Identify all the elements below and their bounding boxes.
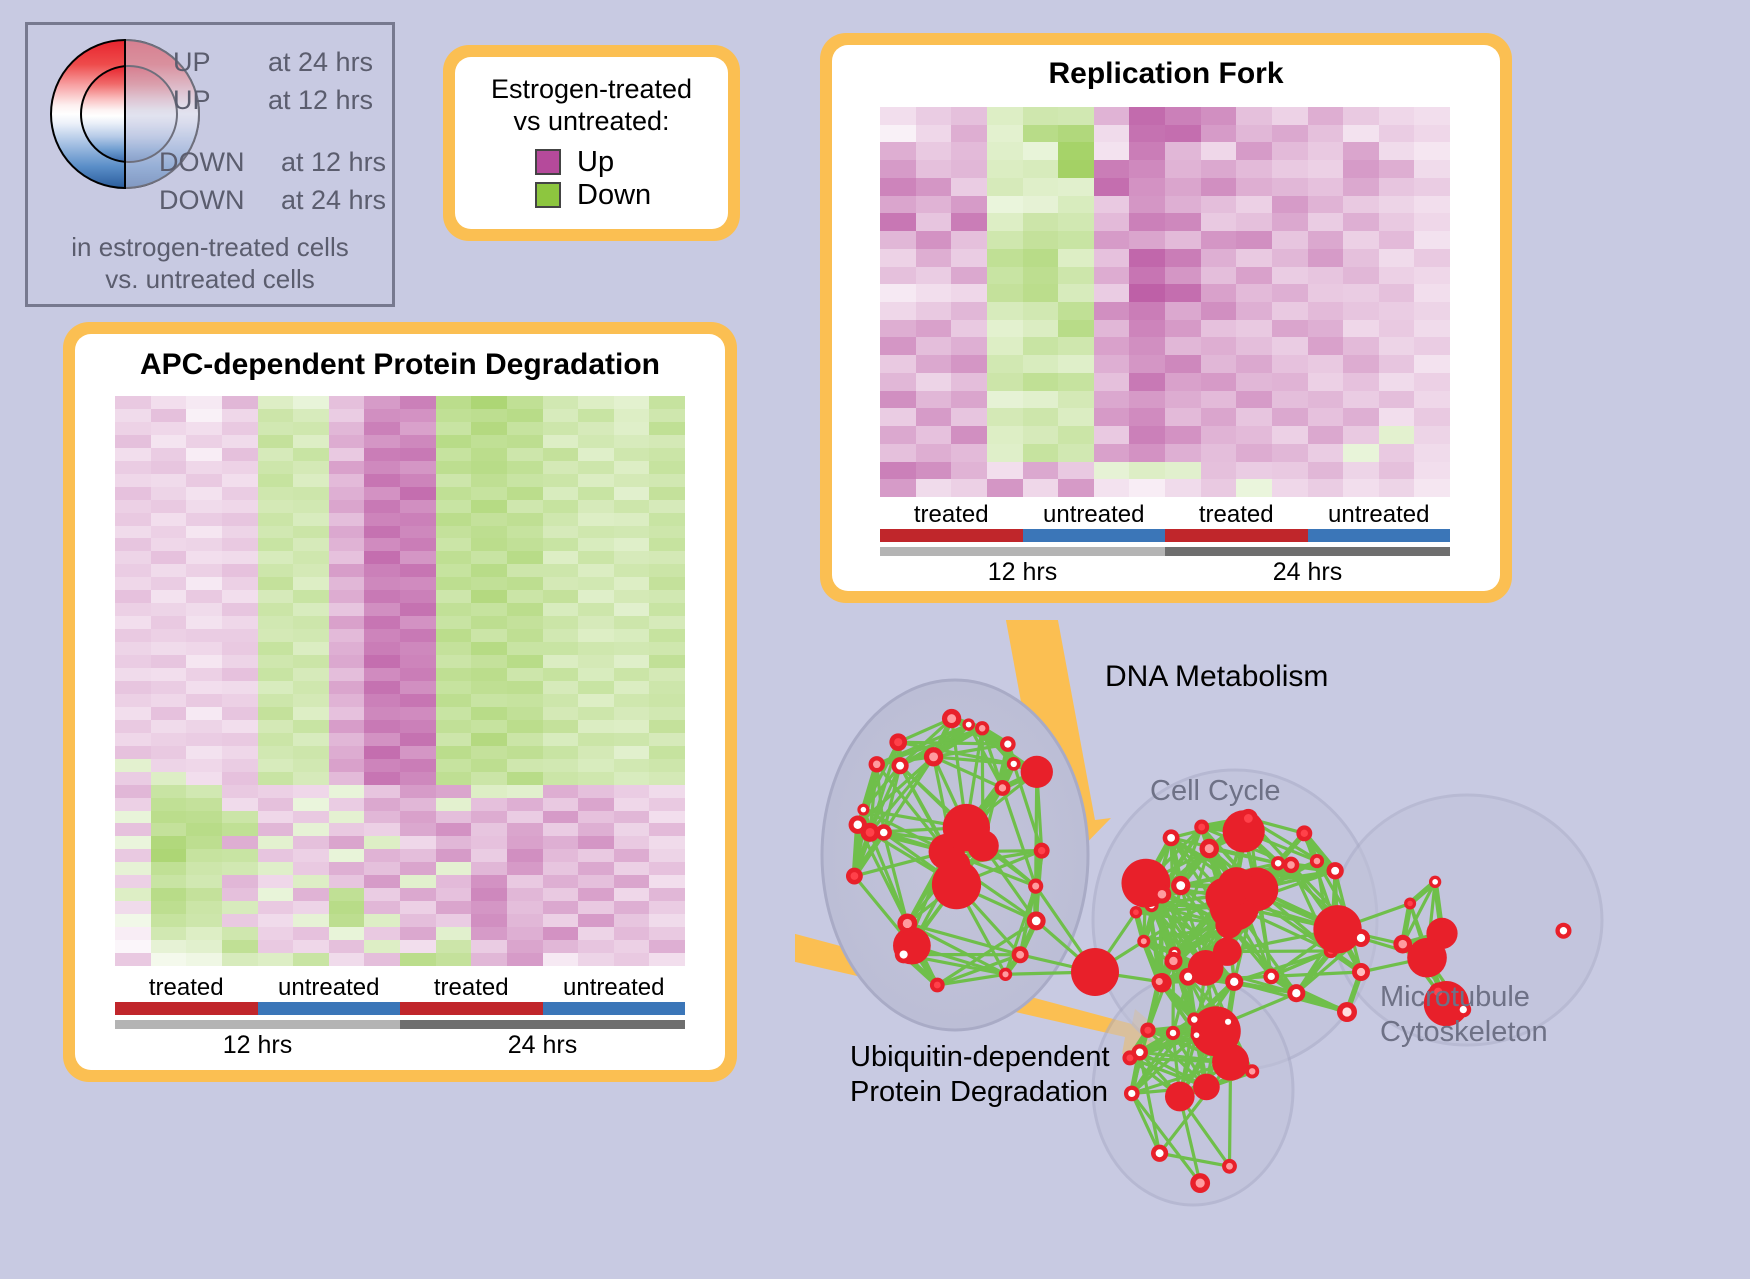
heatmap-cell (1094, 408, 1130, 426)
heatmap-cell (649, 953, 685, 966)
heatmap-cell (543, 811, 579, 824)
heatmap-cell (507, 875, 543, 888)
heatmap-cell (578, 746, 614, 759)
heatmap-cell (258, 681, 294, 694)
heatmap-cell (436, 927, 472, 940)
heatmap-cell (258, 953, 294, 966)
heatmap-cell (1414, 249, 1450, 267)
heatmap-cell (186, 461, 222, 474)
network-node[interactable] (1071, 948, 1119, 996)
heatmap-cell (649, 927, 685, 940)
heatmap-cell (364, 811, 400, 824)
heatmap-cell (507, 590, 543, 603)
heatmap-cell (987, 231, 1023, 249)
heatmap-cell (1236, 479, 1272, 497)
heatmap-cell (578, 681, 614, 694)
heatmap-cell (186, 668, 222, 681)
heatmap-cell (1165, 355, 1201, 373)
heatmap-cell (186, 914, 222, 927)
heatmap-cell (1023, 302, 1059, 320)
heatmap-cell (987, 267, 1023, 285)
heatmap-cell (115, 461, 151, 474)
network-node[interactable] (1212, 1044, 1249, 1081)
heatmap-cell (258, 422, 294, 435)
heatmap-cell (436, 733, 472, 746)
heatmap-cell (400, 914, 436, 927)
heatmap-cell (1272, 444, 1308, 462)
heatmap-cell (507, 772, 543, 785)
heatmap-cell (578, 811, 614, 824)
heatmap-cell (1201, 107, 1237, 125)
heatmap-cell (471, 785, 507, 798)
network-node-center (979, 725, 986, 732)
heatmap-cell (1272, 160, 1308, 178)
heatmap-cell (1236, 267, 1272, 285)
heatmap-cell (151, 953, 187, 966)
heatmap-cell (186, 694, 222, 707)
heatmap-cell (293, 513, 329, 526)
heatmap-cell (222, 785, 258, 798)
heatmap-cell (578, 901, 614, 914)
heatmap-cell (222, 487, 258, 500)
heatmap-cell (951, 249, 987, 267)
heatmap-cell (649, 590, 685, 603)
heatmap-cell (880, 426, 916, 444)
heatmap-cell (115, 448, 151, 461)
time-labels-replication-fork: 12 hrs24 hrs (880, 558, 1450, 587)
network-node-center (1194, 1032, 1200, 1038)
heatmap-cell (507, 862, 543, 875)
heatmap-cell (951, 107, 987, 125)
heatmap-cell (507, 707, 543, 720)
heatmap-cell (1201, 355, 1237, 373)
heatmap-cell (151, 551, 187, 564)
heatmap-cell (578, 461, 614, 474)
heatmap-cell (258, 759, 294, 772)
heatmap-cell (649, 642, 685, 655)
heatmap-cell (1414, 142, 1450, 160)
heatmap-cell (649, 940, 685, 953)
heatmap-cell (614, 526, 650, 539)
heatmap-cell (987, 408, 1023, 426)
heatmap-cell (436, 707, 472, 720)
heatmap-cell (436, 461, 472, 474)
condition-bar-segment (1165, 529, 1308, 542)
heatmap-cell (951, 391, 987, 409)
condition-label: untreated (543, 974, 686, 1002)
heatmap-cell (186, 720, 222, 733)
heatmap-cell (1201, 231, 1237, 249)
heatmap-cell (543, 577, 579, 590)
heatmap-cell (436, 409, 472, 422)
heatmap-cell (880, 196, 916, 214)
heatmap-cell (1058, 444, 1094, 462)
network-node[interactable] (1313, 905, 1361, 953)
heatmap-cell (1129, 125, 1165, 143)
heatmap-cell (1308, 391, 1344, 409)
heatmap-cell (151, 629, 187, 642)
heatmap-cell (1414, 284, 1450, 302)
heatmap-cell (1308, 426, 1344, 444)
heatmap-cell (293, 551, 329, 564)
heatmap-cell (507, 526, 543, 539)
heatmap-cell (1023, 284, 1059, 302)
heatmap-cell (400, 422, 436, 435)
heatmap-cell (151, 823, 187, 836)
heatmap-cell (329, 927, 365, 940)
heatmap-cell (115, 538, 151, 551)
heatmap-cell (507, 642, 543, 655)
heatmap-cell (649, 629, 685, 642)
heatmap-cell (649, 577, 685, 590)
heatmap-cell (151, 927, 187, 940)
heatmap-cell (364, 720, 400, 733)
heatmap-cell (614, 940, 650, 953)
heatmap-cell (258, 798, 294, 811)
heatmap-cell (436, 759, 472, 772)
cluster-label-cell-cycle: Cell Cycle (1150, 775, 1281, 808)
heatmap-cell (186, 642, 222, 655)
heatmap-cell (436, 564, 472, 577)
heatmap-cell (916, 213, 952, 231)
heatmap-cell (614, 590, 650, 603)
heatmap-cell (222, 474, 258, 487)
axis-block-replication-fork: treateduntreatedtreateduntreated 12 hrs2… (880, 501, 1450, 587)
heatmap-cell (1236, 160, 1272, 178)
heatmap-cell (1379, 196, 1415, 214)
heatmap-cell (293, 875, 329, 888)
heatmap-cell (1023, 249, 1059, 267)
heatmap-cell (1379, 462, 1415, 480)
condition-label: treated (1165, 501, 1308, 529)
heatmap-cell (1272, 479, 1308, 497)
heatmap-cell (471, 772, 507, 785)
wheel-row-state-3: DOWN (159, 185, 244, 216)
heatmap-cell (1058, 249, 1094, 267)
heatmap-cell (400, 849, 436, 862)
network-node[interactable] (967, 830, 999, 862)
heatmap-cell (1414, 320, 1450, 338)
heatmap-cell (1414, 408, 1450, 426)
heatmap-cell (1343, 355, 1379, 373)
heatmap-cell (258, 642, 294, 655)
heatmap-cell (1201, 125, 1237, 143)
heatmap-cell (614, 927, 650, 940)
time-color-bar-apc-degradation (115, 1020, 685, 1029)
heatmap-cell (329, 629, 365, 642)
legend-title-line1: Estrogen-treated (465, 73, 718, 105)
heatmap-cell (436, 849, 472, 862)
heatmap-cell (1129, 196, 1165, 214)
heatmap-cell (1023, 267, 1059, 285)
heatmap-cell (436, 487, 472, 500)
heatmap-cell (507, 927, 543, 940)
heatmap-cell (1129, 302, 1165, 320)
heatmap-cell (186, 901, 222, 914)
heatmap-cell (987, 178, 1023, 196)
heatmap-cell (1129, 249, 1165, 267)
heatmap-cell (186, 798, 222, 811)
heatmap-cell (186, 526, 222, 539)
heatmap-cell (222, 577, 258, 590)
down-label: Down (577, 181, 651, 210)
heatmap-cell (400, 409, 436, 422)
heatmap-cell (471, 681, 507, 694)
heatmap-cell (1201, 373, 1237, 391)
heatmap-cell (115, 953, 151, 966)
condition-bar-segment (258, 1002, 401, 1015)
heatmap-cell (436, 603, 472, 616)
network-node-center (866, 828, 875, 837)
heatmap-cell (329, 448, 365, 461)
heatmap-cell (1343, 391, 1379, 409)
network-node[interactable] (1021, 756, 1053, 788)
heatmap-cell (329, 590, 365, 603)
heatmap-cell (1165, 160, 1201, 178)
heatmap-cell (1414, 302, 1450, 320)
heatmap-cell (1343, 337, 1379, 355)
heatmap-cell (436, 811, 472, 824)
heatmap-cell (951, 302, 987, 320)
heatmap-cell (1414, 267, 1450, 285)
heatmap-cell (1058, 426, 1094, 444)
heatmap-cell (1094, 160, 1130, 178)
heatmap-cell (1272, 408, 1308, 426)
heatmap-cell (471, 448, 507, 461)
network-node-center (1198, 824, 1205, 831)
heatmap-cell (293, 694, 329, 707)
heatmap-cell (578, 836, 614, 849)
heatmap-cell (293, 759, 329, 772)
heatmap-cell (471, 526, 507, 539)
heatmap-cell (115, 875, 151, 888)
heatmap-cell (1023, 178, 1059, 196)
heatmap-cell (507, 733, 543, 746)
heatmap-cell (1414, 125, 1450, 143)
heatmap-cell (436, 940, 472, 953)
heatmap-cell (258, 888, 294, 901)
heatmap-cell (151, 603, 187, 616)
heatmap-cell (1201, 320, 1237, 338)
heatmap-cell (543, 940, 579, 953)
heatmap-cell (222, 888, 258, 901)
heatmap-cell (471, 914, 507, 927)
heatmap-cell (471, 940, 507, 953)
network-node[interactable] (1407, 938, 1447, 978)
heatmap-cell (1343, 479, 1379, 497)
heatmap-cell (951, 462, 987, 480)
heatmap-cell (293, 914, 329, 927)
heatmap-cell (1379, 355, 1415, 373)
heatmap-cell (222, 746, 258, 759)
heatmap-cell (364, 798, 400, 811)
heatmap-cell (151, 616, 187, 629)
heatmap-cell (151, 487, 187, 500)
heatmap-cell (1201, 284, 1237, 302)
heatmap-cell (543, 629, 579, 642)
heatmap-cell (880, 249, 916, 267)
heatmap-cell (186, 551, 222, 564)
heatmap-cell (1414, 462, 1450, 480)
heatmap-cell (507, 629, 543, 642)
heatmap-cell (151, 914, 187, 927)
network-node[interactable] (1165, 1082, 1195, 1112)
up-down-legend: Estrogen-treated vs untreated: Up Down (443, 45, 740, 241)
heatmap-cell (222, 448, 258, 461)
heatmap-cell (400, 500, 436, 513)
network-node-center (999, 784, 1006, 791)
heatmap-cell (186, 772, 222, 785)
heatmap-cell (649, 862, 685, 875)
heatmap-cell (614, 849, 650, 862)
heatmap-cell (258, 603, 294, 616)
heatmap-cell (916, 320, 952, 338)
heatmap-cell (543, 538, 579, 551)
heatmap-cell (1379, 373, 1415, 391)
heatmap-cell (364, 836, 400, 849)
heatmap-cell (1058, 337, 1094, 355)
heatmap-cell (222, 798, 258, 811)
heatmap-cell (1201, 337, 1237, 355)
heatmap-cell (507, 811, 543, 824)
heatmap-cell (471, 616, 507, 629)
heatmap-cell (222, 862, 258, 875)
heatmap-cell (1058, 462, 1094, 480)
heatmap-cell (1308, 249, 1344, 267)
heatmap-cell (293, 888, 329, 901)
heatmap-cell (916, 178, 952, 196)
heatmap-cell (400, 888, 436, 901)
heatmap-cell (543, 720, 579, 733)
heatmap-cell (1058, 284, 1094, 302)
heatmap-cell (471, 642, 507, 655)
heatmap-cell (151, 681, 187, 694)
heatmap-cell (951, 213, 987, 231)
heatmap-cell (293, 953, 329, 966)
heatmap-cell (507, 798, 543, 811)
network-node-center (1301, 830, 1308, 837)
heatmap-cell (578, 616, 614, 629)
legend-item-up: Up (535, 148, 718, 177)
heatmap-cell (614, 875, 650, 888)
heatmap-cell (293, 564, 329, 577)
heatmap-cell (400, 901, 436, 914)
heatmap-cell (364, 396, 400, 409)
heatmap-cell (1129, 178, 1165, 196)
network-node-center (1287, 861, 1295, 869)
heatmap-cell (222, 953, 258, 966)
network-node[interactable] (1193, 1074, 1220, 1101)
heatmap-cell (987, 426, 1023, 444)
heatmap-cell (115, 811, 151, 824)
heatmap-cell (1414, 444, 1450, 462)
heatmap-cell (436, 875, 472, 888)
network-node[interactable] (932, 860, 981, 909)
network-node-center (1331, 867, 1339, 875)
heatmap-cell (614, 733, 650, 746)
heatmap-cell (1414, 231, 1450, 249)
heatmap-cell (1236, 107, 1272, 125)
heatmap-cell (186, 513, 222, 526)
heatmap-cell (1236, 125, 1272, 143)
heatmap-cell (258, 849, 294, 862)
heatmap-cell (1058, 213, 1094, 231)
heatmap-cell (1236, 178, 1272, 196)
network-node-center (1136, 1049, 1144, 1057)
heatmap-cell (614, 720, 650, 733)
heatmap-cell (507, 655, 543, 668)
heatmap-cell (1379, 267, 1415, 285)
heatmap-cell (115, 642, 151, 655)
heatmap-cell (329, 707, 365, 720)
heatmap-cell (400, 927, 436, 940)
time-color-bar-replication-fork (880, 547, 1450, 556)
heatmap-cell (1201, 142, 1237, 160)
heatmap-cell (578, 487, 614, 500)
heatmap-cell (1414, 355, 1450, 373)
heatmap-cell (471, 759, 507, 772)
heatmap-cell (364, 953, 400, 966)
heatmap-cell (364, 927, 400, 940)
heatmap-cell (578, 720, 614, 733)
heatmap-cell (1129, 462, 1165, 480)
heatmap-cell (578, 448, 614, 461)
heatmap-cell (649, 836, 685, 849)
heatmap-cell (1165, 196, 1201, 214)
heatmap-cell (151, 798, 187, 811)
heatmap-cell (436, 590, 472, 603)
heatmap-cell (151, 694, 187, 707)
heatmap-cell (436, 836, 472, 849)
heatmap-cell (543, 655, 579, 668)
heatmap-cell (329, 487, 365, 500)
heatmap-cell (329, 577, 365, 590)
heatmap-cell (916, 373, 952, 391)
heatmap-cell (1272, 107, 1308, 125)
heatmap-cell (115, 707, 151, 720)
heatmap-cell (987, 373, 1023, 391)
heatmap-cell (186, 435, 222, 448)
wheel-row-time-3: at 24 hrs (281, 185, 386, 216)
heatmap-cell (293, 461, 329, 474)
heatmap-cell (471, 733, 507, 746)
heatmap-cell (471, 849, 507, 862)
network-node[interactable] (1243, 875, 1274, 906)
heatmap-cell (329, 901, 365, 914)
heatmap-cell (1343, 125, 1379, 143)
heatmap-cell (951, 125, 987, 143)
heatmap-cell (1308, 284, 1344, 302)
heatmap-cell (293, 577, 329, 590)
heatmap-cell (471, 901, 507, 914)
heatmap-cell (1129, 231, 1165, 249)
heatmap-cell (951, 160, 987, 178)
heatmap-cell (471, 513, 507, 526)
network-node-center (1357, 934, 1365, 942)
heatmap-cell (258, 564, 294, 577)
heatmap-cell (649, 681, 685, 694)
heatmap-cell (436, 396, 472, 409)
heatmap-cell (1058, 391, 1094, 409)
heatmap-cell (293, 811, 329, 824)
heatmap-cell (543, 862, 579, 875)
heatmap-cell (1343, 249, 1379, 267)
network-node-center (1292, 989, 1300, 997)
heatmap-cell (1058, 125, 1094, 143)
heatmap-cell (364, 487, 400, 500)
heatmap-cell (614, 487, 650, 500)
heatmap-cell (1236, 444, 1272, 462)
